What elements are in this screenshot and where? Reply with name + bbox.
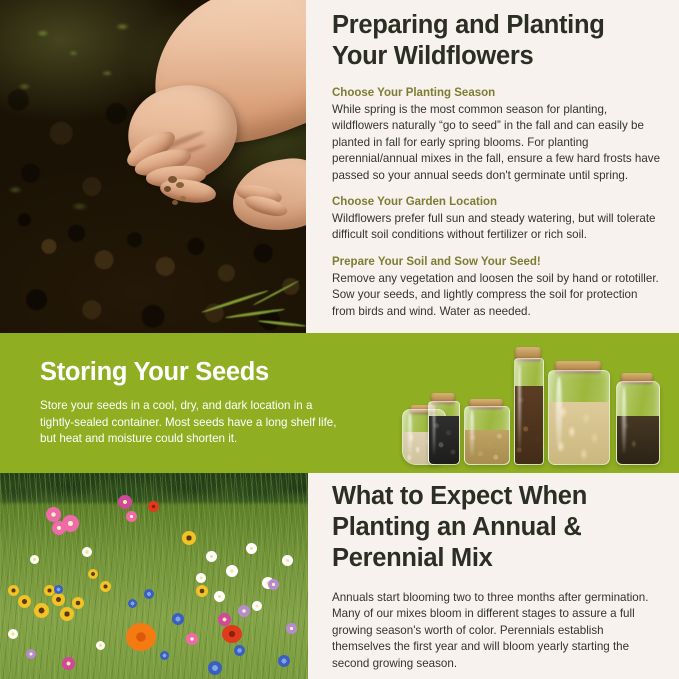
expect-body: Annuals start blooming two to three mont… — [332, 590, 662, 672]
flower-icon — [286, 623, 297, 634]
flower-icon — [252, 601, 262, 611]
flower-icon — [52, 593, 65, 606]
flower-icon — [46, 507, 61, 522]
block-garden-location: Choose Your Garden Location Wildflowers … — [332, 195, 662, 244]
cornflower-icon — [234, 645, 245, 656]
flower-icon — [268, 579, 279, 590]
flower-icon — [26, 649, 36, 659]
storing-copy: Storing Your Seeds Store your seeds in a… — [40, 357, 340, 448]
preparing-copy: Preparing and Planting Your Wildflowers … — [332, 10, 662, 320]
flower-icon — [96, 641, 105, 650]
flower-icon — [282, 555, 293, 566]
flower-icon — [30, 555, 39, 564]
cornflower-icon — [54, 585, 63, 594]
flower-icon — [18, 595, 31, 608]
body-prepare-soil: Remove any vegetation and loosen the soi… — [332, 271, 662, 320]
flower-icon — [62, 657, 75, 670]
flower-icon — [226, 565, 238, 577]
subheading-garden-location: Choose Your Garden Location — [332, 195, 662, 210]
body-garden-location: Wildflowers prefer full sun and steady w… — [332, 211, 662, 244]
flower-icon — [148, 501, 159, 512]
poppy-flower-icon — [126, 623, 156, 651]
seed-icon — [176, 182, 184, 188]
block-planting-season: Choose Your Planting Season While spring… — [332, 86, 662, 184]
flower-icon — [60, 607, 74, 621]
flower-icon — [72, 597, 84, 609]
subheading-planting-season: Choose Your Planting Season — [332, 86, 662, 101]
block-prepare-soil: Prepare Your Soil and Sow Your Seed! Rem… — [332, 255, 662, 320]
flower-icon — [52, 521, 66, 535]
flower-icon — [118, 495, 132, 509]
flower-icon — [182, 531, 196, 545]
flower-icon — [88, 569, 98, 579]
flower-icon — [186, 633, 198, 645]
cornflower-icon — [128, 599, 137, 608]
poppy-flower-icon — [222, 625, 242, 643]
page-title: Preparing and Planting Your Wildflowers — [332, 10, 662, 72]
flower-icon — [100, 581, 111, 592]
seed-icon — [168, 176, 177, 183]
storing-heading: Storing Your Seeds — [40, 357, 340, 387]
flower-icon — [82, 547, 92, 557]
seed-icon — [164, 186, 171, 192]
subheading-prepare-soil: Prepare Your Soil and Sow Your Seed! — [332, 255, 662, 270]
flower-icon — [218, 613, 231, 626]
cornflower-icon — [278, 655, 290, 667]
flower-icon — [206, 551, 217, 562]
wildflower-meadow-image — [0, 473, 308, 679]
flower-icon — [214, 591, 225, 602]
body-planting-season: While spring is the most common season f… — [332, 102, 662, 184]
flower-icon — [126, 511, 137, 522]
storing-body: Store your seeds in a cool, dry, and dar… — [40, 398, 340, 448]
expect-copy: What to Expect When Planting an Annual &… — [332, 481, 662, 672]
cornflower-icon — [144, 589, 154, 599]
flower-icon — [246, 543, 257, 554]
flower-icon — [34, 603, 49, 618]
seed-jars-image — [380, 335, 679, 473]
section-what-to-expect: What to Expect When Planting an Annual &… — [0, 473, 679, 679]
jar-black-seeds — [428, 393, 458, 465]
seed-icon — [172, 200, 178, 205]
flower-icon — [8, 629, 18, 639]
infographic-page: Preparing and Planting Your Wildflowers … — [0, 0, 679, 679]
section-storing-seeds: Storing Your Seeds Store your seeds in a… — [0, 333, 679, 473]
cornflower-icon — [208, 661, 222, 675]
cornflower-icon — [172, 613, 184, 625]
flower-icon — [8, 585, 19, 596]
flower-icon — [238, 605, 250, 617]
seed-icon — [180, 196, 186, 201]
section-preparing-planting: Preparing and Planting Your Wildflowers … — [0, 0, 679, 333]
flower-icon — [196, 573, 206, 583]
flower-icon — [196, 585, 208, 597]
jar-tan-seeds — [464, 399, 508, 465]
jar-pumpkin-seeds — [548, 361, 608, 465]
cornflower-icon — [160, 651, 169, 660]
jar-brown-seeds — [514, 347, 542, 465]
hand-sowing-seeds-image — [0, 0, 306, 333]
jar-dark-seeds — [616, 373, 658, 465]
expect-heading: What to Expect When Planting an Annual &… — [332, 481, 662, 574]
